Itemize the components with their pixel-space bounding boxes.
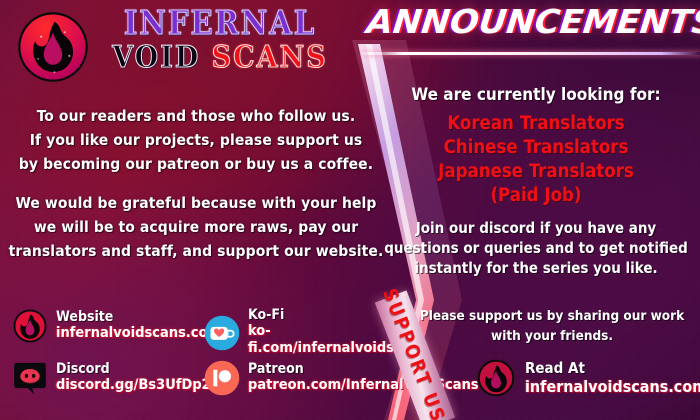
read-at-name: Read At — [525, 360, 700, 377]
role-item: (Paid Job) — [378, 184, 694, 208]
brand-line-infernal: INFERNAL — [98, 4, 342, 42]
role-item: Chinese Translators — [378, 136, 694, 160]
read-at-text: Read At infernalvoidscans.com — [525, 360, 700, 396]
message-line: To our readers and those who follow us. — [8, 104, 384, 128]
message-line: If you like our projects, please support… — [8, 128, 384, 152]
announcements-title: ANNOUNCEMENTS — [365, 2, 700, 41]
share-note: Please support us by sharing our work wi… — [406, 306, 698, 346]
patreon-icon — [204, 360, 240, 396]
social-url: infernalvoidscans.com — [56, 325, 221, 342]
looking-for-label: We are currently looking for: — [378, 84, 694, 106]
discord-note-line: Join our discord if you have any — [376, 218, 696, 238]
discord-note-line: questions or queries and to get notified — [376, 238, 696, 258]
social-url: discord.gg/Bs3UfDp2Kf — [56, 377, 227, 394]
social-name: Website — [56, 310, 221, 325]
brand-word-scans: SCANS — [212, 40, 328, 74]
social-name: Discord — [56, 362, 227, 377]
social-text: Discord discord.gg/Bs3UfDp2Kf — [56, 362, 227, 394]
role-item: Korean Translators — [378, 112, 694, 136]
social-links: Website infernalvoidscans.com — [8, 308, 392, 412]
read-at-url: infernalvoidscans.com — [525, 377, 700, 396]
announcements-header: ANNOUNCEMENTS — [372, 2, 700, 41]
discord-note: Join our discord if you have any questio… — [376, 218, 696, 278]
header-divider-rule — [362, 52, 700, 55]
share-note-line: with your friends. — [406, 326, 698, 346]
message-line: by becoming our patreon or buy us a coff… — [8, 152, 384, 176]
infernal-flame-logo-icon — [476, 358, 516, 398]
infernal-flame-logo-icon — [12, 308, 48, 344]
infernal-flame-logo-icon — [16, 10, 90, 84]
brand-line-voidscans: VOID SCANS — [98, 40, 342, 75]
brand-wordmark: INFERNAL VOID SCANS — [98, 6, 342, 74]
discord-note-line: instantly for the series you like. — [376, 258, 696, 278]
read-at-link[interactable]: Read At infernalvoidscans.com — [476, 358, 700, 398]
discord-icon — [12, 360, 48, 396]
open-roles-list: Korean Translators Chinese Translators J… — [378, 112, 694, 208]
paragraph-gap — [8, 176, 384, 191]
kofi-cup-icon — [204, 315, 240, 351]
social-link-website[interactable]: Website infernalvoidscans.com — [12, 308, 221, 344]
message-line: translators and staff, and support our w… — [8, 239, 384, 263]
brand-word-void: VOID — [112, 40, 200, 74]
social-link-discord[interactable]: Discord discord.gg/Bs3UfDp2Kf — [12, 360, 227, 396]
share-note-line: Please support us by sharing our work — [406, 306, 698, 326]
social-text: Website infernalvoidscans.com — [56, 310, 221, 342]
left-panel: INFERNAL VOID SCANS To our readers and t… — [0, 0, 392, 420]
support-message: To our readers and those who follow us. … — [8, 104, 384, 263]
message-line: We would be grateful because with your h… — [8, 191, 384, 215]
role-item: Japanese Translators — [378, 160, 694, 184]
announcement-banner: INFERNAL VOID SCANS To our readers and t… — [0, 0, 700, 420]
brand-header: INFERNAL VOID SCANS — [12, 6, 342, 90]
message-line: we will be to acquire more raws, pay our — [8, 215, 384, 239]
